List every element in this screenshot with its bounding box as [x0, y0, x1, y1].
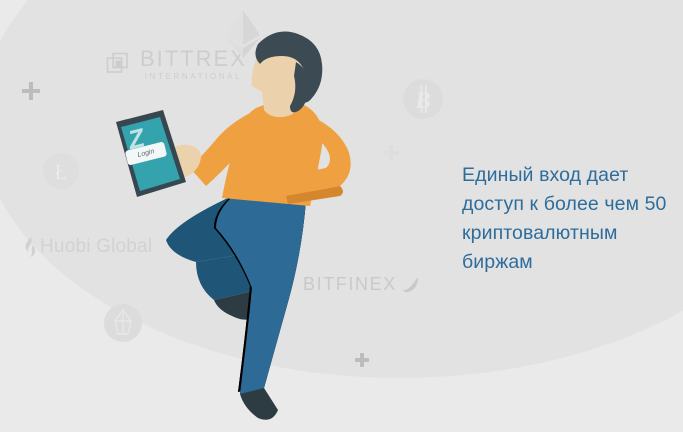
logo-huobi-name: Huobi Global: [40, 236, 152, 258]
coin-bitcoin: B: [402, 78, 444, 120]
coin-eos: [103, 303, 143, 343]
bittrex-square-icon: [106, 52, 132, 78]
plus-bottom-mid-icon: [353, 351, 371, 369]
logo-bittrex-subtitle: INTERNATIONAL: [140, 73, 247, 81]
logo-huobi: Huobi Global: [24, 236, 152, 258]
logo-bitfinex: BITFINEX: [303, 274, 419, 295]
huobi-flame-icon: [24, 237, 37, 257]
headline-text: Единый вход дает доступ к более чем 50 к…: [462, 161, 677, 277]
plus-left-top-icon: [20, 80, 42, 102]
svg-text:Ł: Ł: [55, 160, 68, 184]
logo-bitfinex-name: BITFINEX: [303, 274, 397, 295]
plus-mid-right-icon: [381, 143, 401, 163]
promo-banner: Z Login BITTREX INTERNATIONAL Huobi Glob…: [0, 0, 683, 432]
coin-ethereum: [222, 8, 264, 60]
bitfinex-leaf-icon: [402, 276, 419, 293]
coin-litecoin: Ł: [42, 152, 80, 190]
svg-text:B: B: [414, 88, 430, 113]
